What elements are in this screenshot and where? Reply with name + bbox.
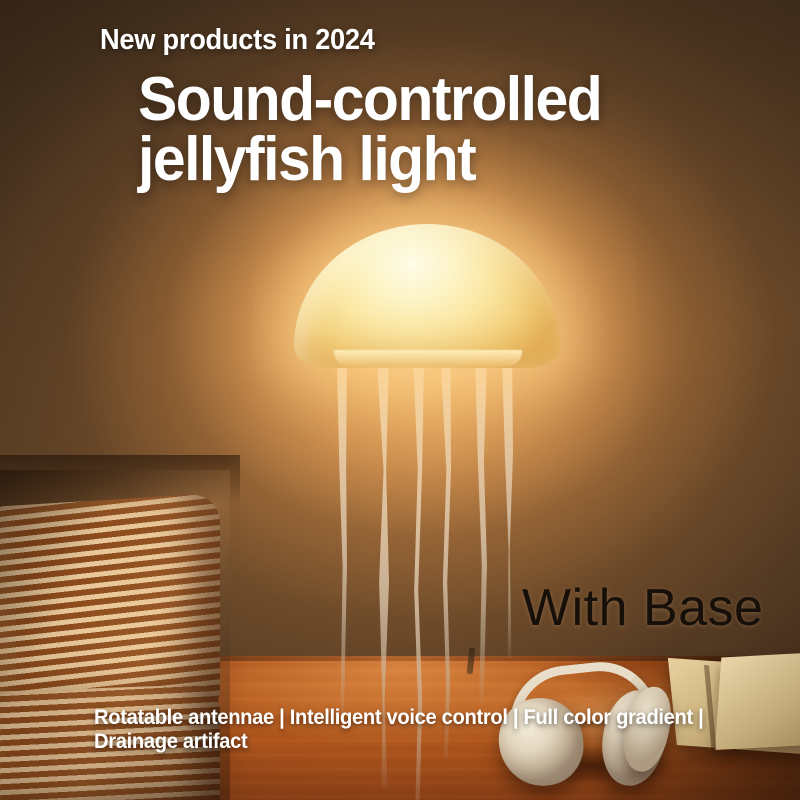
eyebrow-text: New products in 2024 xyxy=(100,24,375,57)
lamp-tentacle xyxy=(336,358,347,718)
headline-line-1: Sound-controlled xyxy=(138,65,601,134)
feature-list-text: Rotatable antennae | Intelligent voice c… xyxy=(94,706,728,755)
product-banner: New products in 2024 Sound-controlled je… xyxy=(0,0,800,800)
with-base-badge: With Base xyxy=(522,578,763,638)
lamp-dome xyxy=(294,224,560,368)
striped-pillow-upper xyxy=(0,493,220,717)
lamp-tentacle xyxy=(502,358,513,658)
notebook-page-right xyxy=(715,652,800,750)
lamp-tentacle xyxy=(474,358,487,703)
page-title: Sound-controlled jellyfish light xyxy=(138,70,601,190)
headline-line-2: jellyfish light xyxy=(138,130,601,190)
lamp-dome-rim xyxy=(334,350,522,366)
